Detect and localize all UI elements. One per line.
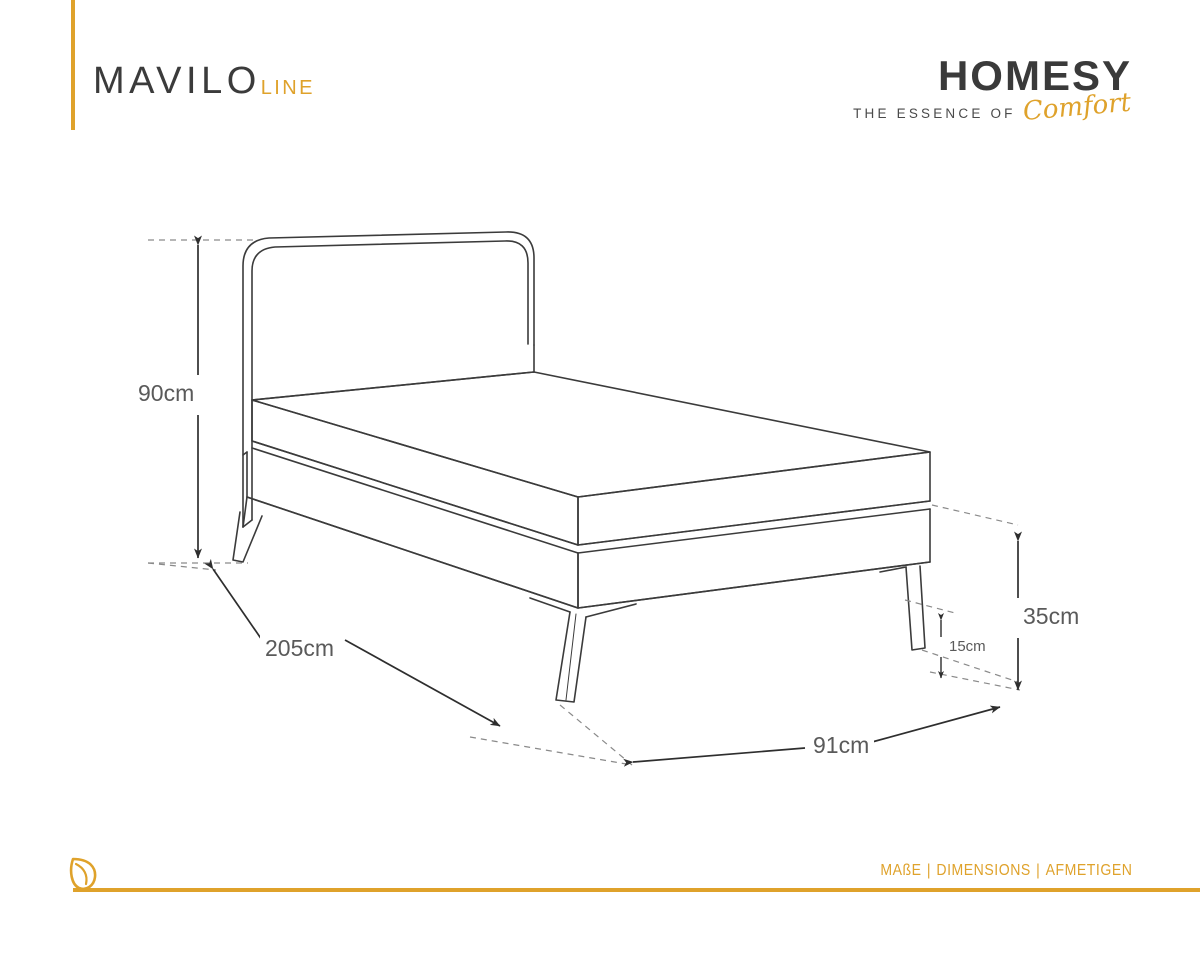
base-right-face: [578, 509, 930, 608]
mattress-left-face: [252, 400, 578, 545]
bed-technical-drawing: [0, 0, 1200, 960]
dimension-label-length: 205cm: [260, 634, 339, 663]
headboard-outer-edge: [243, 232, 534, 527]
footer-labels: MAßE|DIMENSIONS|AFMETIGEN: [880, 862, 1132, 880]
ext-line-floor-corner: [148, 563, 216, 570]
arrow-205cm-lower: [345, 640, 500, 726]
leaf-icon: [64, 854, 104, 894]
ext-line-front-leg-floor: [560, 705, 632, 765]
leg-right: [906, 566, 925, 650]
dimension-label-height: 90cm: [133, 379, 199, 408]
base-top-seam-left: [252, 441, 578, 545]
dimension-label-base-height: 35cm: [1018, 602, 1084, 631]
footer-separator-1: |: [921, 862, 936, 879]
mattress-piping-right: [578, 509, 930, 553]
mattress-piping-left: [252, 448, 578, 553]
ext-line-leg-top: [905, 600, 955, 613]
leg-front-brace-left: [530, 598, 570, 612]
extension-lines: [148, 240, 1020, 765]
arrow-91cm-right: [872, 707, 1000, 742]
ext-line-base-top-right: [932, 505, 1018, 525]
arrow-91cm-left: [633, 748, 805, 762]
arrow-205cm-upper: [213, 569, 262, 640]
footer-separator-2: |: [1030, 862, 1045, 879]
dimension-arrows: [198, 245, 1018, 762]
mattress-top-face: [252, 372, 930, 497]
footer-rule: [73, 888, 1200, 892]
dimension-sheet: MAVILOLINE HOMESY THE ESSENCE OF Comfort: [0, 0, 1200, 960]
leg-rear-left: [233, 512, 262, 562]
headboard-inner-edge: [252, 241, 528, 520]
dimension-label-leg-height: 15cm: [944, 637, 991, 656]
ext-line-front-floor: [470, 737, 632, 765]
footer-label-de: MAßE: [880, 862, 921, 879]
base-top-seam-right: [578, 501, 930, 545]
mattress-head-edge: [252, 372, 534, 400]
dimension-label-width: 91cm: [808, 731, 874, 760]
footer-label-nl: AFMETIGEN: [1045, 862, 1132, 879]
ext-line-right-floor: [930, 672, 1020, 690]
footer-label-en: DIMENSIONS: [936, 862, 1030, 879]
